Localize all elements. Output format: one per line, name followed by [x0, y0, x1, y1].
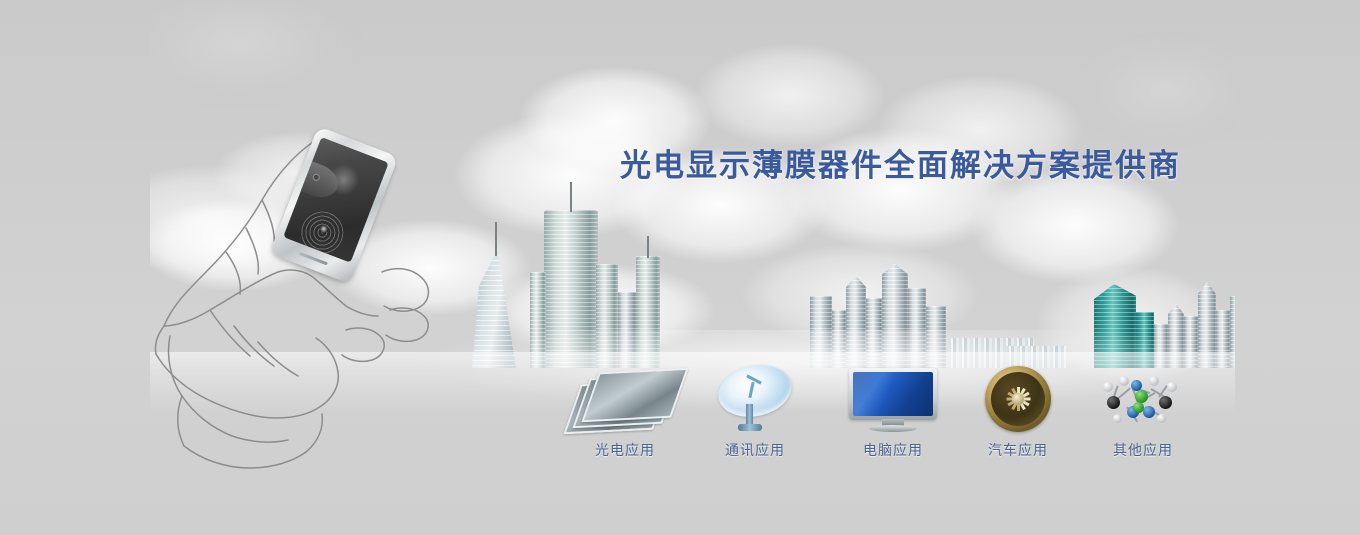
banner-hero: 光电显示薄膜器件全面解决方案提供商 光电应用 [0, 0, 1360, 535]
application-item-automotive[interactable]: 汽车应用 [958, 362, 1078, 460]
application-list: 光电应用 通讯应用 电脑应用 [0, 0, 1360, 535]
application-label: 电脑应用 [833, 440, 953, 460]
application-label: 通讯应用 [695, 440, 815, 460]
application-item-other[interactable]: 其他应用 [1083, 362, 1203, 460]
monitor-icon [833, 362, 953, 434]
application-item-optoelectronic[interactable]: 光电应用 [565, 362, 685, 460]
application-item-computer[interactable]: 电脑应用 [833, 362, 953, 460]
alloy-wheel-icon [958, 362, 1078, 434]
application-label: 其他应用 [1083, 440, 1203, 460]
application-item-communication[interactable]: 通讯应用 [695, 362, 815, 460]
application-label: 光电应用 [565, 440, 685, 460]
molecule-icon [1083, 362, 1203, 434]
application-label: 汽车应用 [958, 440, 1078, 460]
glass-panels-icon [565, 362, 685, 434]
satellite-dish-icon [695, 362, 815, 434]
